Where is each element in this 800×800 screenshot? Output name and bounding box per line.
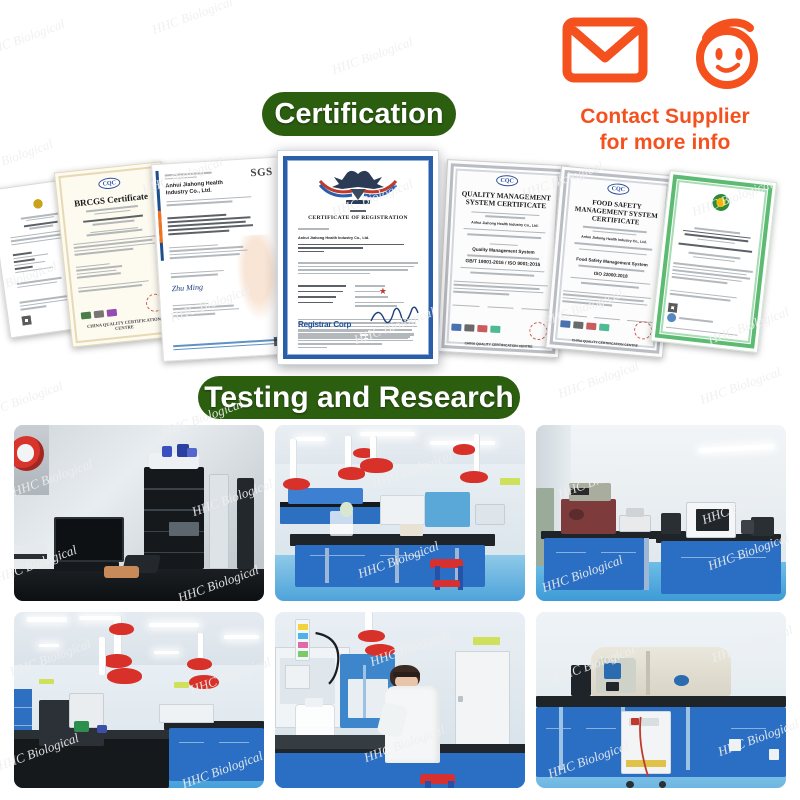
certificate-issuer: Registrar Corp (298, 320, 368, 329)
photo-cleanroom-lab[interactable] (14, 612, 264, 788)
contact-supplier-text: Contact Supplier for more info (540, 104, 790, 157)
certificate-registrar-corp[interactable]: CERTIFICATE OF REGISTRATION Anhui Jiahon… (277, 150, 439, 365)
photo-instrument-corner[interactable] (536, 425, 786, 601)
cqc-badge: CQC (607, 183, 630, 196)
certificate-title: CERTIFICATE OF REGISTRATION (298, 215, 418, 221)
certificate-title: QUALITY MANAGEMENT SYSTEM CERTIFICATE (458, 190, 555, 212)
certificate-company: Anhui Jiahong Health Industry Co., Ltd. (457, 219, 553, 228)
contact-line-2: for more info (540, 130, 790, 156)
certificate-issuer: CHINA QUALITY CERTIFICATION CENTRE (450, 341, 546, 350)
photo-main-lab-benches[interactable] (275, 425, 525, 601)
watermark: HHC Biological (0, 16, 67, 60)
certificate-company: Anhui Jiahong Health Industry Co., Ltd. (165, 179, 242, 198)
certificates-gallery: CQC BRCGS Certificate (0, 150, 800, 380)
watermark: HHC Biological (0, 378, 65, 422)
certification-banner: Certification (262, 92, 456, 136)
certificate-title: BRCGS Certificate (69, 190, 154, 209)
certificate-issuer: CHINA QUALITY CERTIFICATION CENTRE (82, 316, 167, 335)
lab-photo-grid (14, 425, 786, 788)
contact-icons (540, 14, 790, 100)
photo-technician-working[interactable] (275, 612, 525, 788)
certificate-sgs[interactable]: SGS Anhui Jiahong Health Industry Co., L… (151, 156, 291, 361)
eagle-crest-icon (312, 167, 404, 207)
smiley-face-icon[interactable] (684, 14, 768, 97)
watermark: HHC Biological (330, 34, 415, 78)
photo-hplc-lab[interactable] (14, 425, 264, 601)
certificate-organic-green[interactable] (650, 170, 777, 353)
contact-line-1: Contact Supplier (540, 104, 790, 130)
certificate-title: FOOD SAFETY MANAGEMENT SYSTEM CERTIFICAT… (569, 197, 663, 229)
watermark: HHC Biological (150, 0, 235, 38)
cqc-badge: CQC (98, 177, 121, 190)
certificate-company: Anhui Jiahong Health Industry Co., Ltd. (298, 236, 418, 242)
envelope-icon[interactable] (562, 14, 648, 89)
photo-spectrometer[interactable] (536, 612, 786, 788)
testing-research-banner: Testing and Research (198, 376, 520, 419)
signature-icon (368, 303, 420, 327)
contact-supplier-block[interactable]: Contact Supplier for more info (540, 14, 790, 157)
promo-page: Contact Supplier for more info Certifica… (0, 0, 800, 800)
cqc-badge: CQC (496, 175, 519, 187)
organic-emblem-icon (711, 193, 730, 212)
